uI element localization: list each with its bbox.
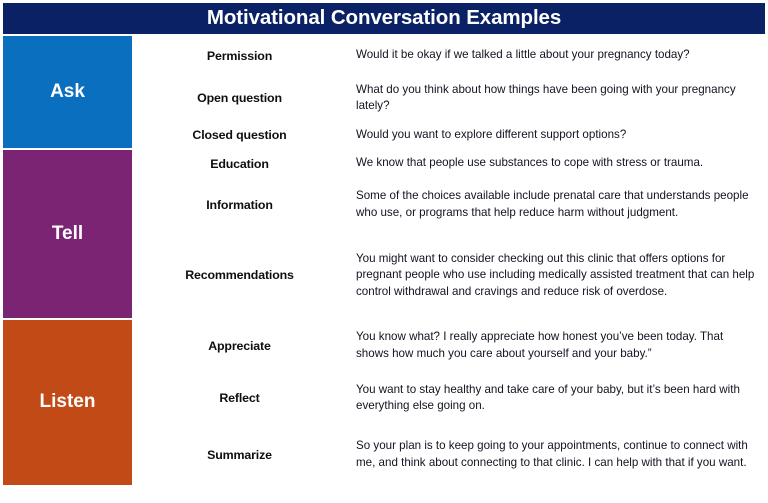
table-row: AppreciateYou know what? I really apprec… [134,320,765,374]
page-title: Motivational Conversation Examples [3,3,765,34]
row-example: You might want to consider checking out … [347,233,765,320]
motivational-conversation-table: Motivational Conversation Examples AskPe… [0,0,768,503]
row-label: Information [134,179,347,233]
row-example: What do you think about how things have … [347,77,765,122]
row-label: Permission [134,36,347,77]
row-example: So your plan is to keep going to your ap… [347,425,765,485]
row-example: Would you want to explore different supp… [347,122,765,150]
table-row: RecommendationsYou might want to conside… [134,233,765,320]
row-example: We know that people use substances to co… [347,150,765,178]
row-example: Some of the choices available include pr… [347,179,765,233]
row-label: Open question [134,77,347,122]
table-row: InformationSome of the choices available… [134,179,765,233]
row-label: Reflect [134,374,347,425]
table-row: Open questionWhat do you think about how… [134,77,765,122]
row-example: You want to stay healthy and take care o… [347,374,765,425]
row-label: Recommendations [134,233,347,320]
table-row: Closed questionWould you want to explore… [134,122,765,150]
row-label: Closed question [134,122,347,150]
table-row: EducationWe know that people use substan… [134,150,765,178]
row-example: You know what? I really appreciate how h… [347,320,765,374]
row-example: Would it be okay if we talked a little a… [347,36,765,77]
row-label: Appreciate [134,320,347,374]
table-row: PermissionWould it be okay if we talked … [134,36,765,77]
category-header-tell: Tell [3,150,134,319]
examples-grid: AskPermissionWould it be okay if we talk… [3,36,765,485]
row-label: Education [134,150,347,178]
table-row: ReflectYou want to stay healthy and take… [134,374,765,425]
category-header-ask: Ask [3,36,134,150]
table-row: SummarizeSo your plan is to keep going t… [134,425,765,485]
category-header-listen: Listen [3,320,134,485]
row-label: Summarize [134,425,347,485]
